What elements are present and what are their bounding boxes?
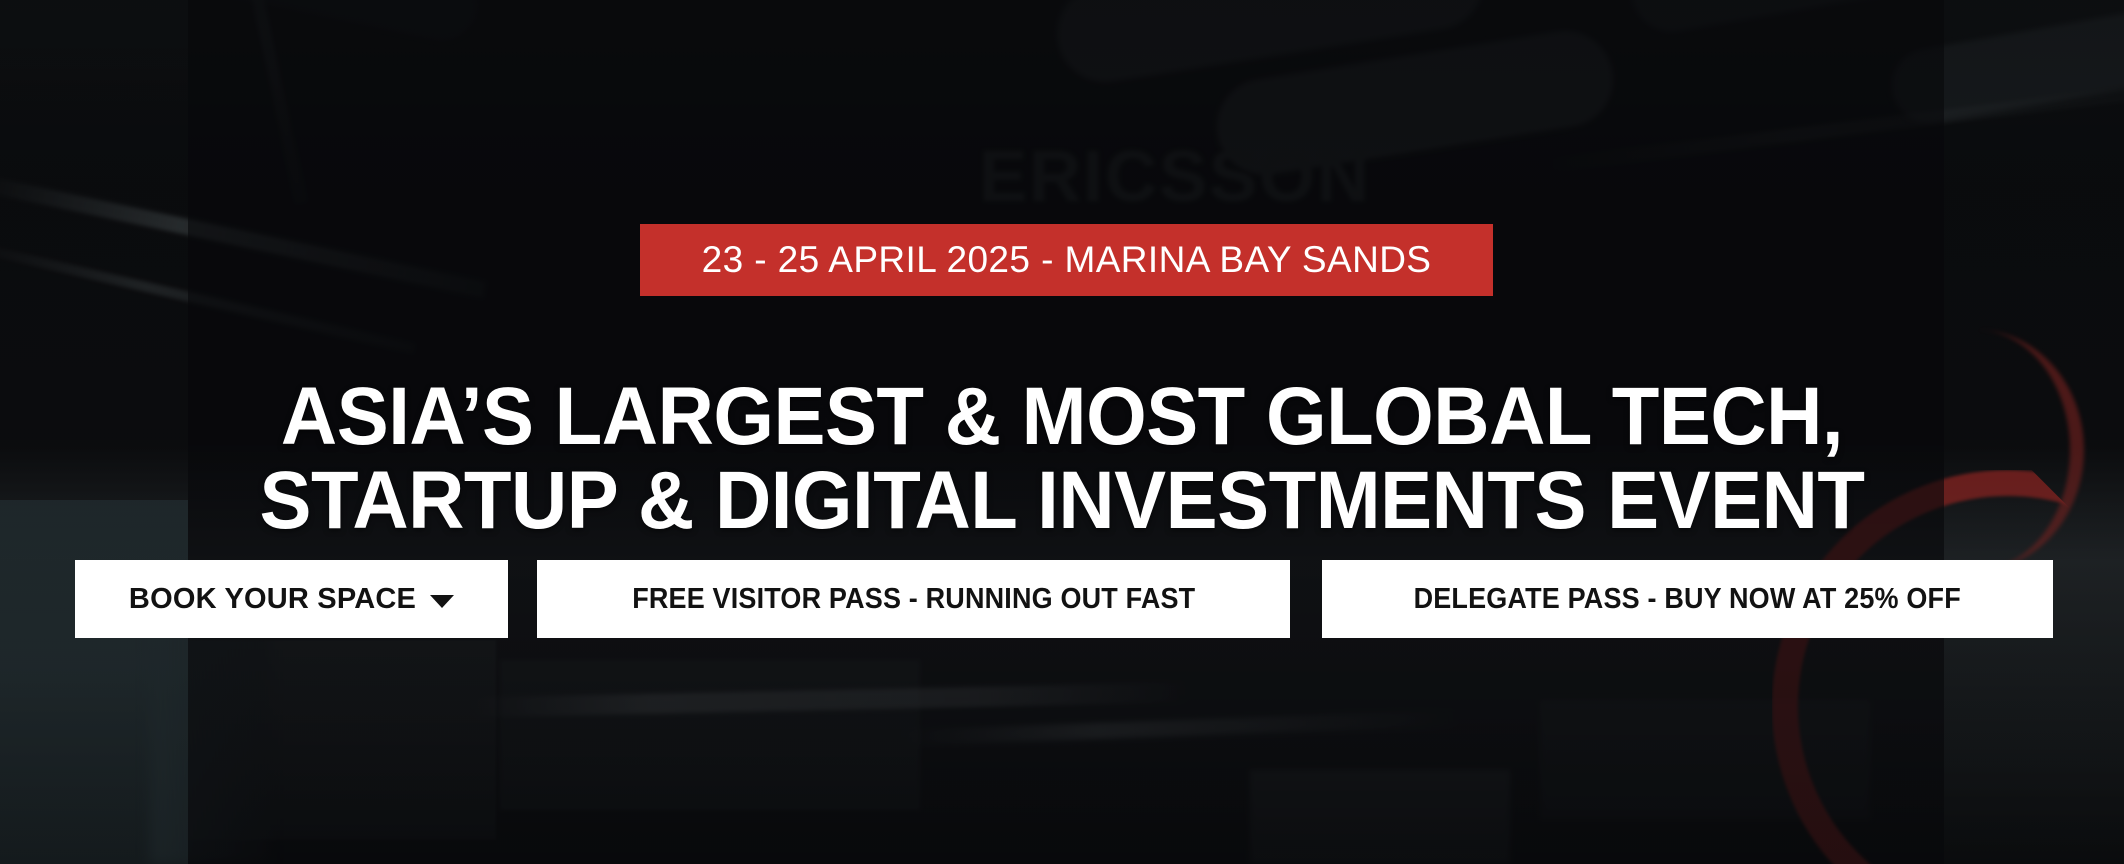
page-title: ASIA’S LARGEST & MOST GLOBAL TECH, START… xyxy=(53,375,2071,543)
hero-content: 23 - 25 APRIL 2025 - MARINA BAY SANDS AS… xyxy=(0,0,2124,864)
delegate-pass-label: DELEGATE PASS - BUY NOW AT 25% OFF xyxy=(1414,583,1961,616)
book-your-space-button[interactable]: BOOK YOUR SPACE xyxy=(75,560,508,638)
hero-banner: ERICSSON 23 - 25 APRIL 2025 - MARINA BAY… xyxy=(0,0,2124,864)
free-visitor-pass-button[interactable]: FREE VISITOR PASS - RUNNING OUT FAST xyxy=(537,560,1290,638)
event-date-venue-badge: 23 - 25 APRIL 2025 - MARINA BAY SANDS xyxy=(640,224,1493,296)
book-your-space-label: BOOK YOUR SPACE xyxy=(129,583,416,616)
delegate-pass-button[interactable]: DELEGATE PASS - BUY NOW AT 25% OFF xyxy=(1322,560,2053,638)
headline-line-1: ASIA’S LARGEST & MOST GLOBAL TECH, xyxy=(53,375,2071,459)
free-visitor-pass-label: FREE VISITOR PASS - RUNNING OUT FAST xyxy=(632,583,1195,616)
cta-button-row: BOOK YOUR SPACE FREE VISITOR PASS - RUNN… xyxy=(0,560,2124,638)
caret-down-icon xyxy=(430,595,454,608)
headline-line-2: STARTUP & DIGITAL INVESTMENTS EVENT xyxy=(53,459,2071,543)
